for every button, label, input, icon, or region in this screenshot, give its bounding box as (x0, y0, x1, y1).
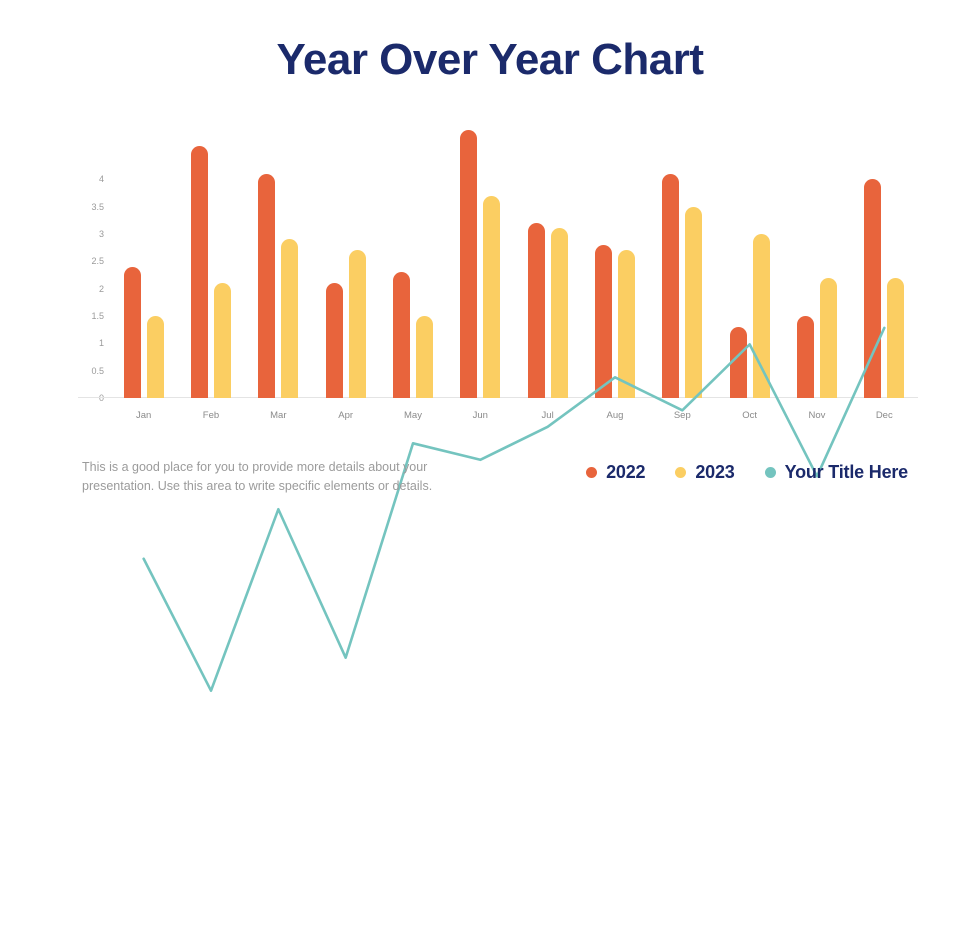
x-axis-label: Dec (851, 410, 918, 430)
x-axis-label: Aug (581, 410, 648, 430)
x-axis-label: Jan (110, 410, 177, 430)
x-axis-label: Jul (514, 410, 581, 430)
x-axis: JanFebMarAprMayJunJulAugSepOctNovDec (110, 410, 918, 430)
bar-group (447, 130, 514, 398)
bar-2022-sep[interactable] (662, 174, 679, 398)
x-axis-label: Sep (649, 410, 716, 430)
bar-group (312, 130, 379, 398)
bar-2023-nov[interactable] (820, 278, 837, 398)
bar-group (581, 130, 648, 398)
x-axis-label: Oct (716, 410, 783, 430)
y-axis-tick: 2 (99, 284, 104, 294)
legend-dot-icon (675, 467, 686, 478)
bar-2023-aug[interactable] (618, 250, 635, 398)
legend-item[interactable]: Your Title Here (765, 462, 908, 483)
legend-dot-icon (586, 467, 597, 478)
bar-group (514, 130, 581, 398)
legend-item[interactable]: 2023 (675, 462, 734, 483)
y-axis-tick: 1 (99, 338, 104, 348)
bar-2022-jul[interactable] (528, 223, 545, 398)
bar-2023-dec[interactable] (887, 278, 904, 398)
x-axis-label: May (379, 410, 446, 430)
plot-area (110, 130, 918, 398)
bar-groups (110, 130, 918, 398)
x-axis-label: Nov (783, 410, 850, 430)
bar-group (716, 130, 783, 398)
x-axis-label: Feb (177, 410, 244, 430)
bar-2022-aug[interactable] (595, 245, 612, 398)
bar-group (649, 130, 716, 398)
slide: Year Over Year Chart 00.511.522.533.54 J… (0, 0, 980, 551)
x-axis-label: Mar (245, 410, 312, 430)
legend-label: Your Title Here (785, 462, 908, 483)
bar-2022-apr[interactable] (326, 283, 343, 398)
y-axis-tick: 4 (99, 174, 104, 184)
bar-2022-nov[interactable] (797, 316, 814, 398)
bar-group (783, 130, 850, 398)
y-axis-tick: 0 (99, 393, 104, 403)
bar-2022-may[interactable] (393, 272, 410, 398)
chart-legend: 20222023Your Title Here (586, 462, 908, 483)
bar-group (851, 130, 918, 398)
bar-2023-oct[interactable] (753, 234, 770, 398)
bar-2022-dec[interactable] (864, 179, 881, 398)
chart-container: 00.511.522.533.54 JanFebMarAprMayJunJulA… (78, 130, 918, 440)
legend-dot-icon (765, 467, 776, 478)
y-axis-tick: 1.5 (91, 311, 104, 321)
legend-item[interactable]: 2022 (586, 462, 645, 483)
bar-2022-jun[interactable] (460, 130, 477, 398)
bar-2022-jan[interactable] (124, 267, 141, 398)
bar-2023-feb[interactable] (214, 283, 231, 398)
bar-group (379, 130, 446, 398)
bar-group (177, 130, 244, 398)
legend-label: 2023 (695, 462, 734, 483)
x-axis-label: Apr (312, 410, 379, 430)
bar-2023-may[interactable] (416, 316, 433, 398)
bar-2023-jul[interactable] (551, 228, 568, 398)
bar-group (110, 130, 177, 398)
description-text: This is a good place for you to provide … (82, 458, 474, 497)
y-axis-tick: 3 (99, 229, 104, 239)
bar-2022-mar[interactable] (258, 174, 275, 398)
y-axis-tick: 3.5 (91, 202, 104, 212)
page-title: Year Over Year Chart (0, 36, 980, 84)
bar-2023-sep[interactable] (685, 207, 702, 398)
bar-2023-mar[interactable] (281, 239, 298, 398)
bar-2023-apr[interactable] (349, 250, 366, 398)
y-axis-tick: 2.5 (91, 256, 104, 266)
y-axis: 00.511.522.533.54 (78, 130, 108, 398)
bar-2023-jun[interactable] (483, 196, 500, 398)
bar-2022-oct[interactable] (730, 327, 747, 398)
bar-2023-jan[interactable] (147, 316, 164, 398)
bar-2022-feb[interactable] (191, 146, 208, 398)
bar-group (245, 130, 312, 398)
legend-label: 2022 (606, 462, 645, 483)
x-axis-label: Jun (447, 410, 514, 430)
y-axis-tick: 0.5 (91, 366, 104, 376)
